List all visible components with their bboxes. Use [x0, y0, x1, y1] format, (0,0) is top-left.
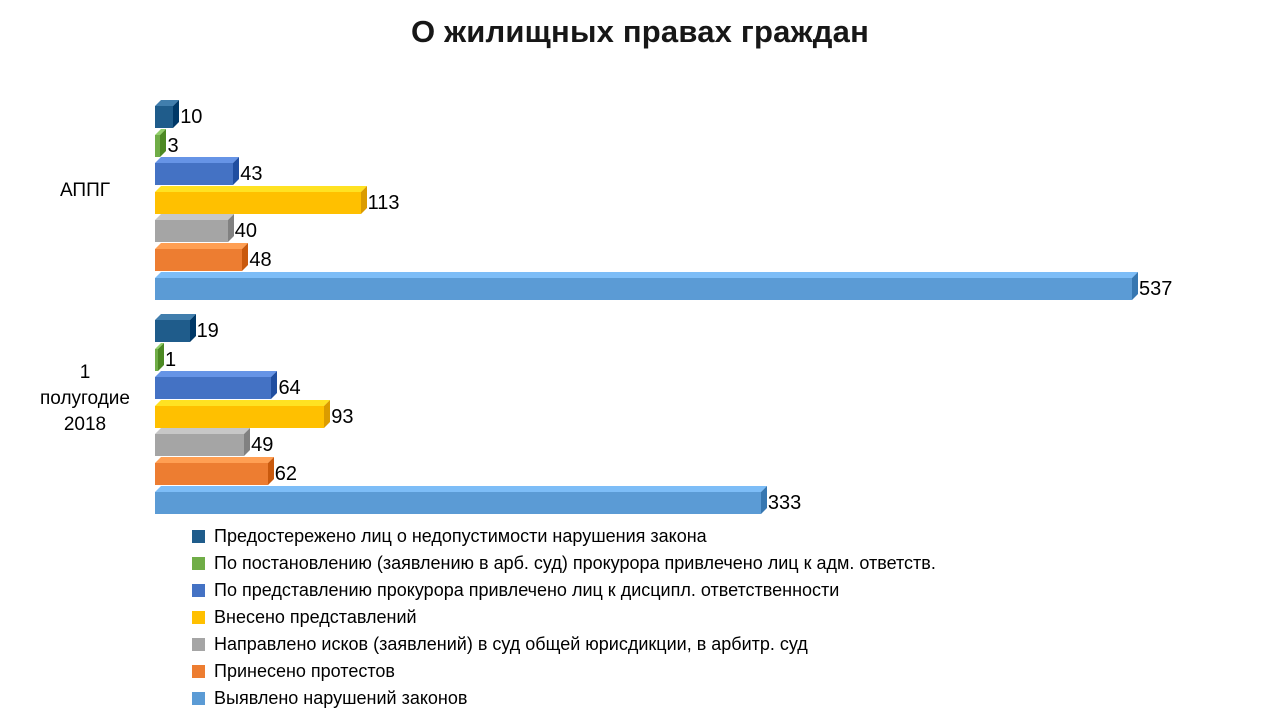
legend-item-label: Внесено представлений [214, 608, 417, 627]
legend-swatch-icon [192, 692, 205, 705]
bar-side-face [268, 457, 274, 485]
bar-front-face [155, 278, 1132, 300]
legend-item[interactable]: Направлено исков (заявлений) в суд общей… [192, 631, 1192, 658]
bar-value-label: 10 [180, 106, 202, 128]
bar-series-7-category-1[interactable]: 537 [155, 272, 1132, 294]
bar-value-label: 62 [275, 463, 297, 485]
bar-side-face [242, 243, 248, 271]
bar-front-face [155, 320, 190, 342]
bar-series-5-category-1[interactable]: 40 [155, 214, 228, 236]
category-axis-label: АППГ [20, 178, 150, 204]
bar-side-face [1132, 272, 1138, 300]
bar-front-face [155, 249, 242, 271]
bar-side-face [233, 157, 239, 185]
bar-front-face [155, 163, 233, 185]
bar-series-1-category-2[interactable]: 19 [155, 314, 190, 336]
bar-series-4-category-1[interactable]: 113 [155, 186, 361, 208]
legend-item-label: По представлению прокурора привлечено ли… [214, 581, 839, 600]
bar-value-label: 19 [197, 320, 219, 342]
bar-side-face [761, 486, 767, 514]
legend-item[interactable]: Предостережено лиц о недопустимости нару… [192, 523, 1192, 550]
bar-value-label: 40 [235, 220, 257, 242]
legend-item[interactable]: По постановлению (заявлению в арб. суд) … [192, 550, 1192, 577]
bar-value-label: 43 [240, 163, 262, 185]
bar-side-face [244, 428, 250, 456]
legend-swatch-icon [192, 665, 205, 678]
legend-item[interactable]: Внесено представлений [192, 604, 1192, 631]
bar-series-2-category-2[interactable]: 1 [155, 343, 158, 365]
legend-swatch-icon [192, 584, 205, 597]
bar-value-label: 1 [165, 349, 176, 371]
bar-side-face [228, 214, 234, 242]
bar-front-face [155, 192, 361, 214]
bar-side-face [173, 100, 179, 128]
bar-side-face [271, 371, 277, 399]
legend-swatch-icon [192, 611, 205, 624]
bar-series-1-category-1[interactable]: 10 [155, 100, 173, 122]
bar-front-face [155, 463, 268, 485]
bar-value-label: 64 [278, 377, 300, 399]
bar-side-face [361, 186, 367, 214]
legend-item-label: Принесено протестов [214, 662, 395, 681]
bar-value-label: 48 [249, 249, 271, 271]
bar-front-face [155, 377, 271, 399]
bar-series-5-category-2[interactable]: 49 [155, 428, 244, 450]
chart-legend: Предостережено лиц о недопустимости нару… [192, 523, 1192, 712]
bar-front-face [155, 406, 324, 428]
bar-series-4-category-2[interactable]: 93 [155, 400, 324, 422]
bar-value-label: 537 [1139, 278, 1172, 300]
bar-side-face [158, 343, 164, 371]
bar-series-7-category-2[interactable]: 333 [155, 486, 761, 508]
bar-front-face [155, 220, 228, 242]
bar-front-face [155, 434, 244, 456]
bar-value-label: 93 [331, 406, 353, 428]
legend-item-label: Выявлено нарушений законов [214, 689, 467, 708]
bar-side-face [160, 129, 166, 157]
category-axis-label: 1 полугодие 2018 [20, 360, 150, 438]
bar-value-label: 333 [768, 492, 801, 514]
legend-swatch-icon [192, 638, 205, 651]
legend-item-label: Направлено исков (заявлений) в суд общей… [214, 635, 808, 654]
bar-series-6-category-2[interactable]: 62 [155, 457, 268, 479]
bar-front-face [155, 106, 173, 128]
legend-item[interactable]: Принесено протестов [192, 658, 1192, 685]
legend-item-label: По постановлению (заявлению в арб. суд) … [214, 554, 936, 573]
chart-plot-area: АППГ1034311340485371 полугодие 201819164… [0, 0, 1280, 500]
legend-item-label: Предостережено лиц о недопустимости нару… [214, 527, 707, 546]
bar-series-3-category-2[interactable]: 64 [155, 371, 271, 393]
bar-front-face [155, 492, 761, 514]
bar-value-label: 113 [368, 192, 400, 214]
bar-series-6-category-1[interactable]: 48 [155, 243, 242, 265]
legend-item[interactable]: По представлению прокурора привлечено ли… [192, 577, 1192, 604]
bar-side-face [324, 400, 330, 428]
legend-swatch-icon [192, 530, 205, 543]
bar-side-face [190, 314, 196, 342]
bar-series-3-category-1[interactable]: 43 [155, 157, 233, 179]
bar-value-label: 3 [167, 135, 178, 157]
bar-series-2-category-1[interactable]: 3 [155, 129, 160, 151]
legend-item[interactable]: Выявлено нарушений законов [192, 685, 1192, 712]
legend-swatch-icon [192, 557, 205, 570]
bar-value-label: 49 [251, 434, 273, 456]
